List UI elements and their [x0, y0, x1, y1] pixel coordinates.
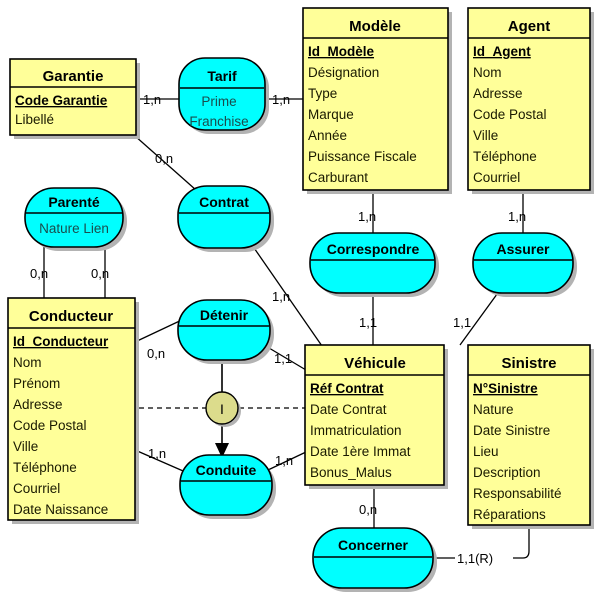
entity-sinistre-attr-3: Lieu — [473, 444, 499, 459]
entity-conducteur-attr-8: Date Naissance — [13, 502, 108, 517]
entity-conducteur-attr-1: Nom — [13, 355, 42, 370]
entity-agent-attr-1: Nom — [473, 65, 502, 80]
entity-modele-attr-5: Puissance Fiscale — [308, 149, 417, 164]
entity-modele-attr-0: Id_Modèle — [308, 44, 375, 59]
entity-vehicule-attr-2: Immatriculation — [310, 423, 402, 438]
entity-vehicule-attr-1: Date Contrat — [310, 402, 387, 417]
entity-modele[interactable]: Modèle Id_Modèle Désignation Type Marque… — [303, 8, 452, 194]
entity-agent-attr-0: Id_Agent — [473, 44, 531, 59]
relationship-conduite-title: Conduite — [196, 462, 257, 478]
entity-vehicule[interactable]: Véhicule Réf Contrat Date Contrat Immatr… — [305, 345, 448, 489]
entity-sinistre-attr-6: Réparations — [473, 507, 546, 522]
relationship-assurer[interactable]: Assurer — [473, 233, 577, 297]
entity-agent-attr-3: Code Postal — [473, 107, 547, 122]
relationship-contrat-title: Contrat — [199, 194, 249, 210]
entity-sinistre-attr-4: Description — [473, 465, 541, 480]
entity-conducteur-title: Conducteur — [29, 308, 113, 325]
entity-sinistre-attr-2: Date Sinistre — [473, 423, 550, 438]
diagram-canvas: I Garantie Code Garantie Libellé Modèle … — [0, 0, 600, 600]
relationship-correspondre-title: Correspondre — [327, 241, 420, 257]
entity-modele-attr-6: Carburant — [308, 170, 368, 185]
entity-agent-attr-6: Courriel — [473, 170, 520, 185]
relationship-correspondre[interactable]: Correspondre — [310, 233, 439, 297]
entity-vehicule-attr-4: Bonus_Malus — [310, 465, 392, 480]
entity-conducteur[interactable]: Conducteur Id_Conducteur Nom Prénom Adre… — [8, 298, 139, 524]
inheritance-group: I — [139, 360, 305, 458]
relationship-parente[interactable]: Parenté Nature Lien — [25, 188, 127, 251]
entity-garantie-title: Garantie — [43, 68, 104, 85]
entity-agent[interactable]: Agent Id_Agent Nom Adresse Code Postal V… — [468, 8, 594, 194]
entity-sinistre-attr-1: Nature — [473, 402, 514, 417]
entity-conducteur-attr-6: Téléphone — [13, 460, 77, 475]
entity-conducteur-attr-7: Courriel — [13, 481, 60, 496]
entity-vehicule-attr-3: Date 1ère Immat — [310, 444, 411, 459]
cardinality-garantie-tarif: 1,n — [143, 92, 161, 107]
cardinality-vehicule-concerner: 0,n — [359, 502, 377, 517]
relationship-conduite[interactable]: Conduite — [180, 455, 276, 519]
entity-modele-attr-1: Désignation — [308, 65, 379, 80]
entity-modele-attr-2: Type — [308, 86, 337, 101]
cardinality-contrat-vehicule: 1,n — [272, 289, 290, 304]
entity-conducteur-attr-3: Adresse — [13, 397, 63, 412]
link-concerner-sinistre-b — [513, 525, 529, 558]
relationship-concerner-title: Concerner — [338, 537, 409, 553]
relationship-contrat[interactable]: Contrat — [178, 186, 274, 252]
relationship-tarif-attr-1: Franchise — [189, 114, 248, 129]
cardinality-correspondre-veh: 1,1 — [359, 315, 377, 330]
entity-sinistre-attr-5: Responsabilité — [473, 486, 562, 501]
relationship-parente-title: Parenté — [48, 194, 100, 210]
entity-conducteur-attr-5: Ville — [13, 439, 38, 454]
entity-modele-attr-3: Marque — [308, 107, 354, 122]
cardinality-tarif-modele: 1,n — [272, 92, 290, 107]
relationship-tarif-title: Tarif — [207, 68, 237, 84]
relationship-detenir-title: Détenir — [200, 307, 249, 323]
cardinality-conducteur-detenir: 0,n — [147, 346, 165, 361]
entity-vehicule-title: Véhicule — [344, 355, 406, 372]
relationship-assurer-title: Assurer — [497, 241, 550, 257]
entity-conducteur-attr-4: Code Postal — [13, 418, 87, 433]
mcd-diagram: I Garantie Code Garantie Libellé Modèle … — [0, 0, 600, 600]
inheritance-symbol: I — [220, 401, 224, 417]
entity-agent-attr-2: Adresse — [473, 86, 523, 101]
cardinality-conducteur-conduite: 1,n — [148, 446, 166, 461]
entity-agent-attr-5: Téléphone — [473, 149, 537, 164]
entity-sinistre-attr-0: N°Sinistre — [473, 381, 538, 396]
entity-vehicule-attr-0: Réf Contrat — [310, 381, 384, 396]
entity-garantie-attr-1: Libellé — [15, 112, 54, 127]
cardinality-concerner-sinistre: 1,1(R) — [457, 551, 493, 566]
entity-garantie[interactable]: Garantie Code Garantie Libellé — [10, 59, 140, 139]
cardinality-assurer-sinistre: 1,1 — [453, 315, 471, 330]
cardinality-detenir-vehicule: 1,1 — [274, 351, 292, 366]
entity-conducteur-attr-2: Prénom — [13, 376, 60, 391]
relationship-tarif-attr-0: Prime — [201, 94, 236, 109]
entity-modele-title: Modèle — [349, 18, 401, 35]
entity-sinistre[interactable]: Sinistre N°Sinistre Nature Date Sinistre… — [468, 345, 594, 529]
entity-conducteur-attr-0: Id_Conducteur — [13, 334, 109, 349]
cardinality-parente-left: 0,n — [30, 266, 48, 281]
cardinality-conduite-vehicule: 1,n — [275, 453, 293, 468]
cardinality-agent-assurer: 1,n — [508, 209, 526, 224]
cardinality-parente-right: 0,n — [91, 266, 109, 281]
relationship-concerner[interactable]: Concerner — [313, 528, 437, 592]
entity-modele-attr-4: Année — [308, 128, 347, 143]
entity-agent-title: Agent — [508, 18, 551, 35]
entity-agent-attr-4: Ville — [473, 128, 498, 143]
cardinality-modele-correspondre: 1,n — [358, 209, 376, 224]
relationship-parente-attr-0: Nature Lien — [39, 221, 109, 236]
entity-sinistre-title: Sinistre — [501, 355, 556, 372]
cardinality-garantie-contrat: 0,n — [155, 151, 173, 166]
entity-garantie-attr-0: Code Garantie — [15, 93, 108, 108]
relationship-tarif[interactable]: Tarif Prime Franchise — [179, 58, 269, 134]
relationship-detenir[interactable]: Détenir — [178, 300, 274, 364]
